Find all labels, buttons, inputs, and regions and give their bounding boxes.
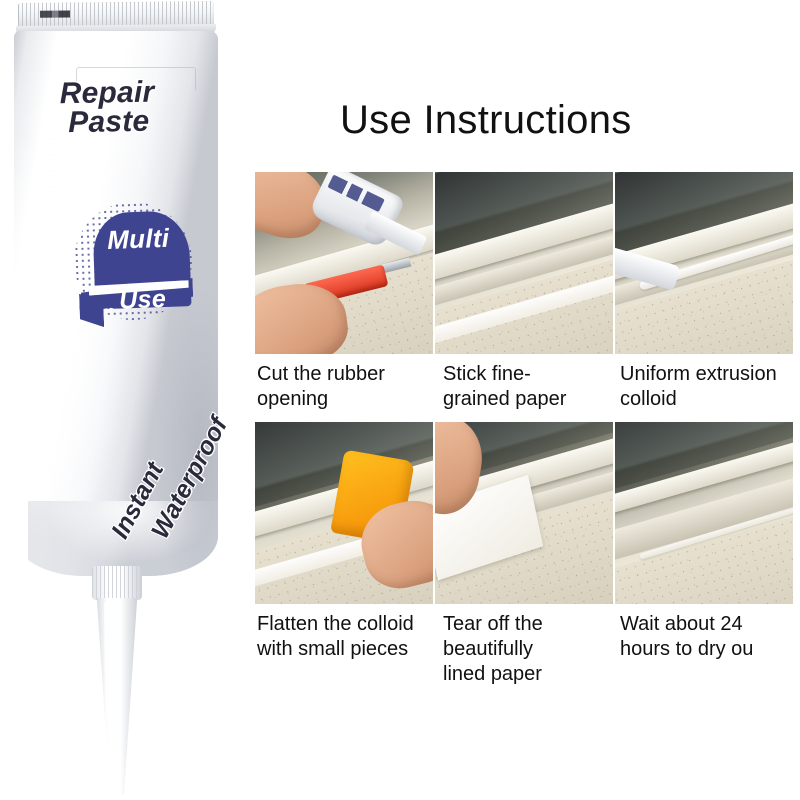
product-feature-text: Instant Waterproof [28, 330, 248, 560]
step-5-caption-line2: beautifully [443, 637, 629, 662]
product-title-line2: Paste [68, 106, 210, 138]
step-1-caption-line1: Cut the rubber [257, 362, 443, 387]
badge-ribbon-tail [79, 293, 104, 328]
step-3-photo [615, 172, 793, 354]
tube-batch-code [40, 10, 70, 17]
product-tube: Repair Paste Multi Use Instant Waterproo… [0, 0, 240, 800]
step-6-caption: Wait about 24 hours to dry ou [620, 612, 800, 662]
instructions-panel: Use Instructions Cut the rub [240, 0, 800, 800]
nozzle-collar [92, 566, 142, 600]
product-title: Repair Paste [59, 77, 210, 138]
step-2-photo [435, 172, 613, 354]
badge-text-use: Use [119, 287, 167, 314]
step-3-caption: Uniform extrusion colloid [620, 362, 800, 412]
step-4-caption-line2: with small pieces [257, 637, 443, 662]
step-3-caption-line1: Uniform extrusion [620, 362, 800, 387]
multi-use-badge: Multi Use [68, 194, 203, 334]
step-1-caption-line2: opening [257, 387, 443, 412]
nozzle-tip [95, 598, 139, 794]
step-2-caption-line2: grained paper [443, 387, 629, 412]
step-2-caption-line1: Stick fine- [443, 362, 629, 387]
step-4-caption-line1: Flatten the colloid [257, 612, 443, 637]
step-5-photo [435, 422, 613, 604]
step-6-photo [615, 422, 793, 604]
step-6-caption-line2: hours to dry ou [620, 637, 800, 662]
step-5-caption: Tear off the beautifully lined paper [443, 612, 629, 687]
instruction-step-grid: Cut the rubber opening Stick fine- [240, 0, 800, 800]
step-4-caption: Flatten the colloid with small pieces [257, 612, 443, 662]
badge-text-multi: Multi [107, 225, 170, 253]
step-5-caption-line3: lined paper [443, 662, 629, 687]
step-6-caption-line1: Wait about 24 [620, 612, 800, 637]
step-3-caption-line2: colloid [620, 387, 800, 412]
step-5-caption-line1: Tear off the [443, 612, 629, 637]
step-4-photo [255, 422, 433, 604]
step-1-photo [255, 172, 433, 354]
product-title-line1: Repair [59, 77, 209, 109]
step-2-caption: Stick fine- grained paper [443, 362, 629, 412]
step-1-caption: Cut the rubber opening [257, 362, 443, 412]
